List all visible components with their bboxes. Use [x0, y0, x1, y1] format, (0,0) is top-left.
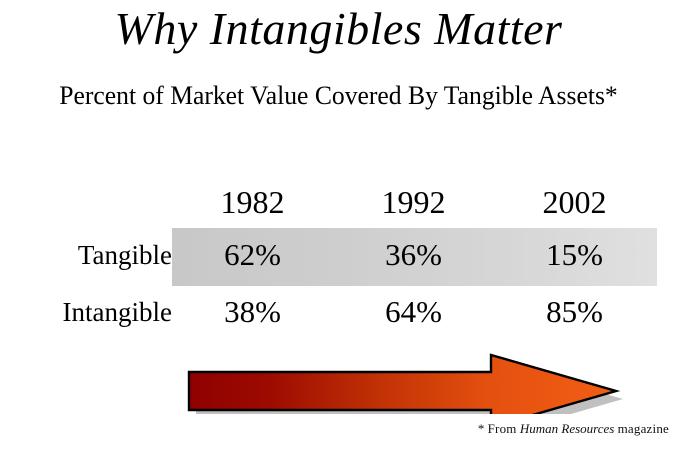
column-header-1982: 1982 — [172, 178, 333, 226]
footnote-source: Human Resources — [520, 421, 614, 436]
footnote-asterisk: * — [478, 421, 485, 436]
column-header-2002: 2002 — [494, 178, 655, 226]
table-corner-cell — [0, 178, 172, 226]
table-body: Tangible 62% 36% 15% Intangible 38% 64% … — [0, 226, 677, 340]
table-header: 1982 1992 2002 — [0, 178, 677, 226]
page-title: Why Intangibles Matter — [0, 2, 677, 56]
row-label-intangible: Intangible — [0, 284, 172, 340]
right-arrow-svg — [178, 348, 630, 414]
cell-tangible-1992: 36% — [333, 226, 494, 284]
page-subtitle: Percent of Market Value Covered By Tangi… — [5, 80, 672, 112]
table-spacer-cell — [655, 178, 677, 226]
table-row: Intangible 38% 64% 85% — [0, 284, 677, 340]
arrow-shape — [189, 355, 616, 414]
table-row: Tangible 62% 36% 15% — [0, 226, 677, 284]
data-table: 1982 1992 2002 Tangible 62% 36% 15% Inta… — [0, 178, 677, 340]
row-spacer-cell — [655, 284, 677, 340]
table-header-row: 1982 1992 2002 — [0, 178, 677, 226]
row-label-tangible: Tangible — [0, 226, 172, 284]
cell-tangible-1982: 62% — [172, 226, 333, 284]
footnote: * From Human Resources magazine — [0, 420, 669, 438]
data-table-container: 1982 1992 2002 Tangible 62% 36% 15% Inta… — [0, 178, 677, 348]
footnote-suffix: magazine — [618, 421, 669, 436]
right-arrow-icon — [178, 348, 630, 414]
cell-intangible-1992: 64% — [333, 284, 494, 340]
cell-tangible-2002: 15% — [494, 226, 655, 284]
slide-canvas: Why Intangibles Matter Percent of Market… — [0, 0, 677, 460]
footnote-prefix: From — [488, 421, 517, 436]
row-spacer-cell — [655, 226, 677, 284]
cell-intangible-1982: 38% — [172, 284, 333, 340]
column-header-1992: 1992 — [333, 178, 494, 226]
cell-intangible-2002: 85% — [494, 284, 655, 340]
